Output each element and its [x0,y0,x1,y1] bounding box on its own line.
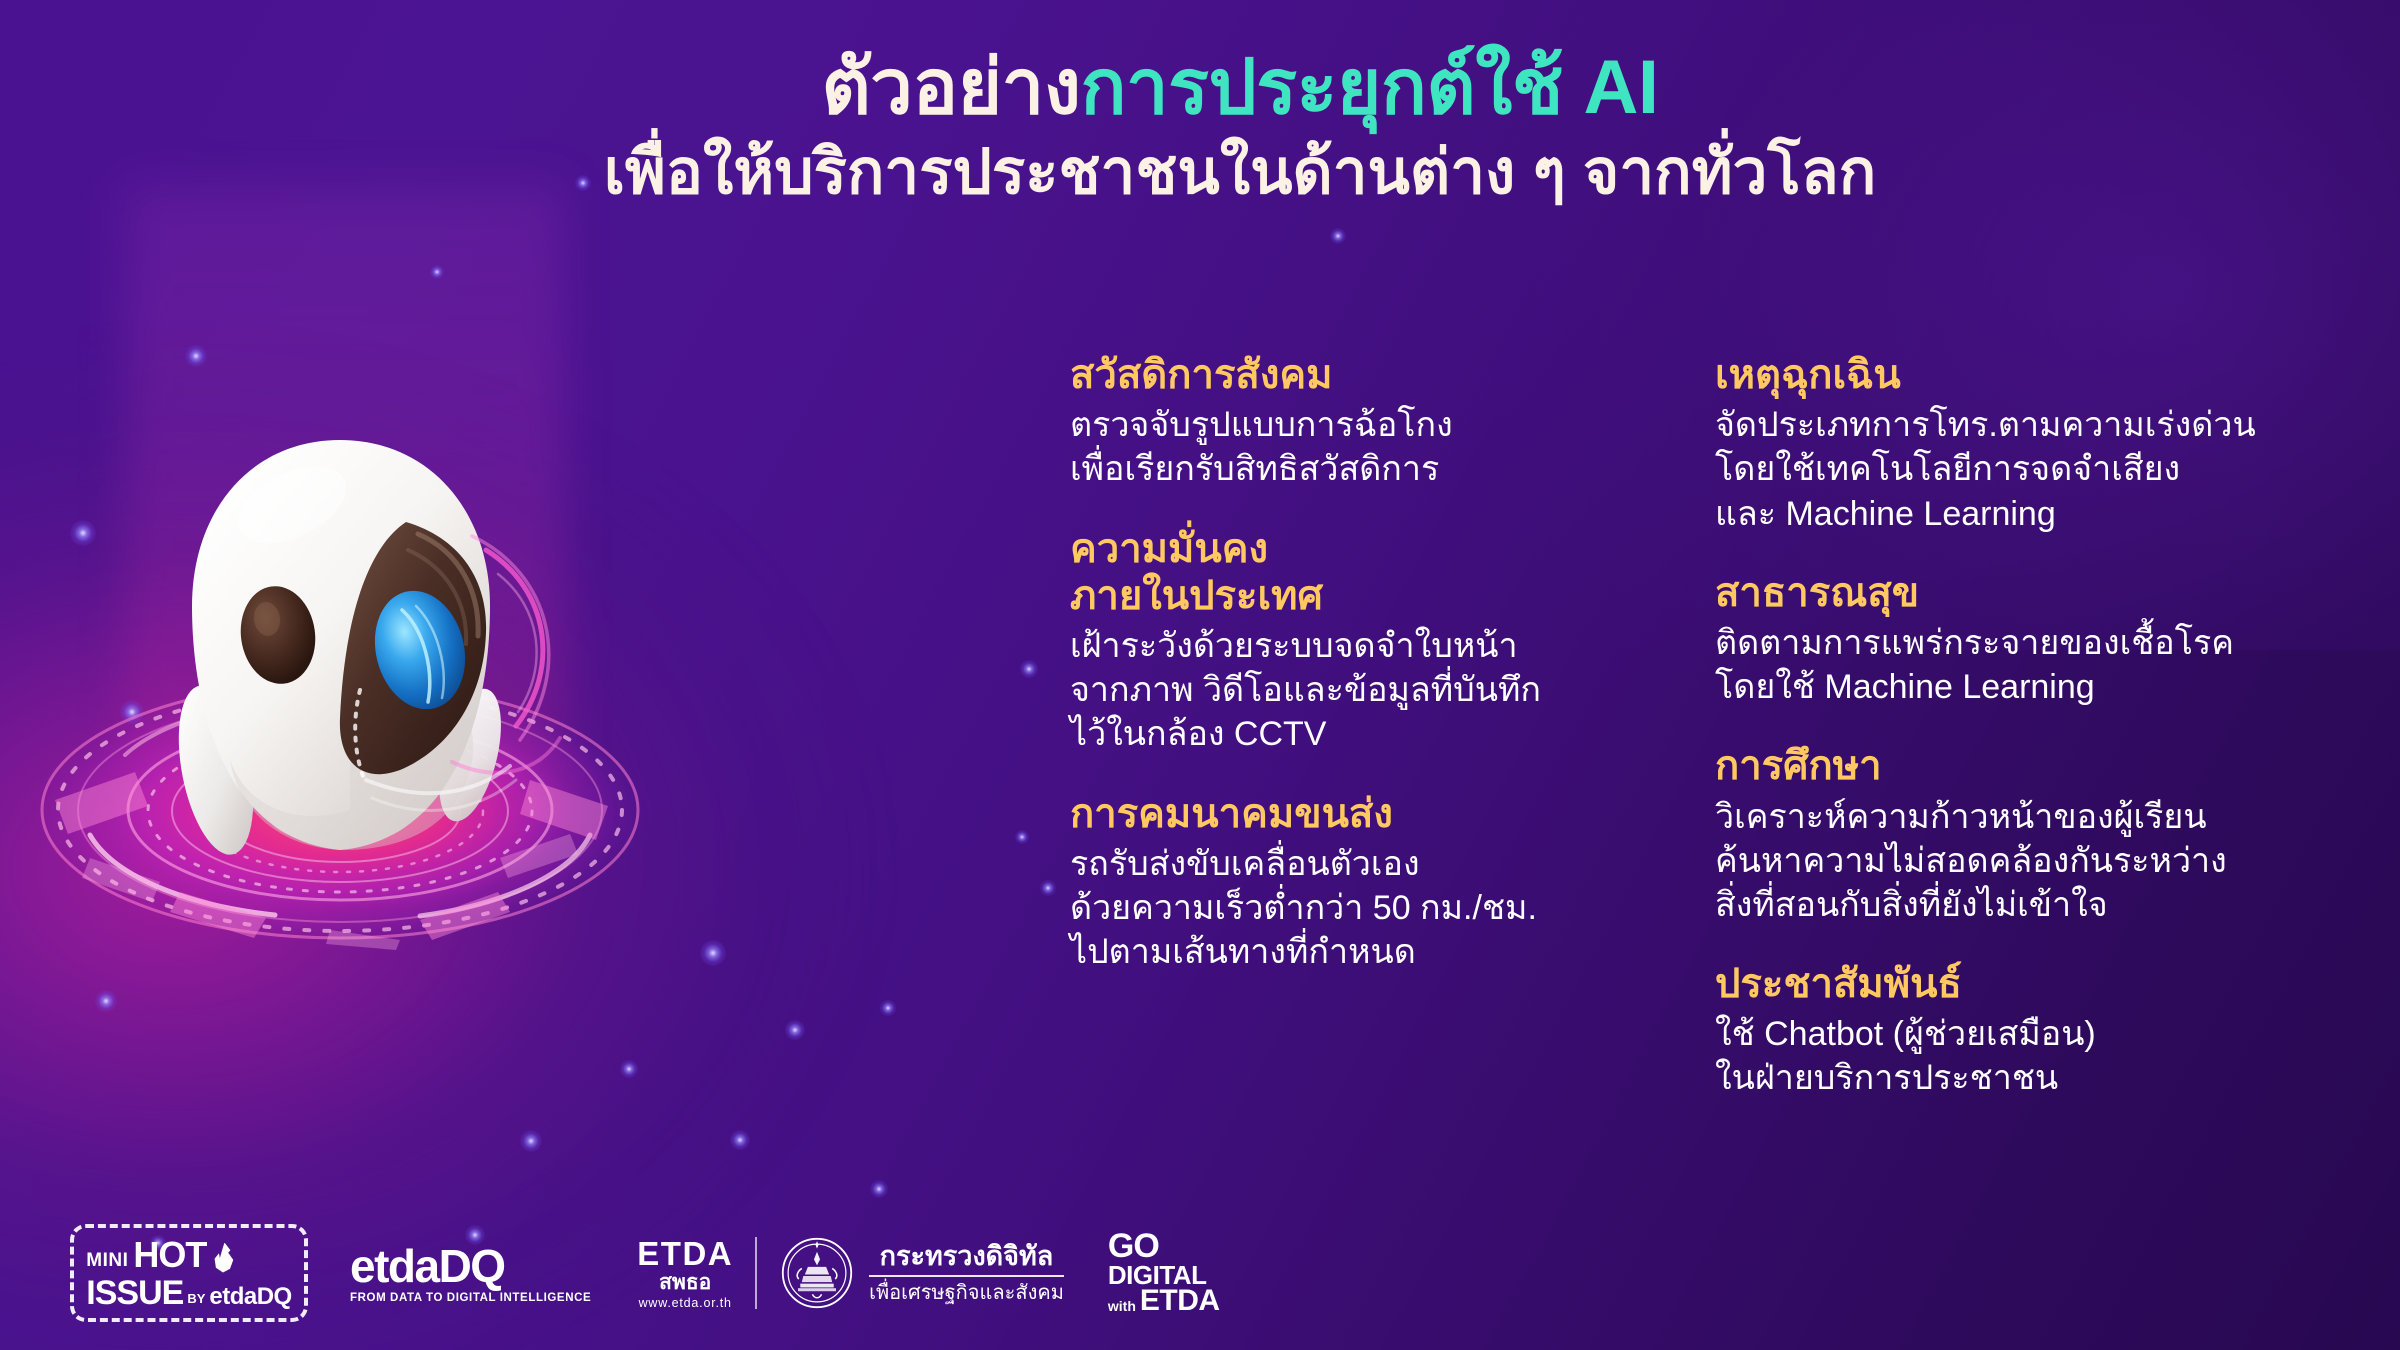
item-body-line: สิ่งที่สอนกับสิ่งที่ยังไม่เข้าใจ [1715,883,2355,927]
footer-divider [755,1237,757,1309]
content-column-left: สวัสดิการสังคม ตรวจจับรูปแบบการฉ้อโกง เพ… [1070,352,1680,974]
go-etda-label: ETDA [1140,1287,1220,1315]
item-heading: สวัสดิการสังคม [1070,352,1680,399]
item-body-line: ด้วยความเร็วต่ำกว่า 50 กม./ชม. [1070,886,1680,930]
item-heading: สาธารณสุข [1715,570,2355,617]
item-heading: เหตุฉุกเฉิน [1715,352,2355,399]
footer-logo-bar: MINI HOT ISSUE BY etdaDQ etdaDQ FROM DAT… [70,1218,1220,1328]
item-body-line: รถรับส่งขับเคลื่อนตัวเอง [1070,842,1680,886]
item-body-line: วิเคราะห์ความก้าวหน้าของผู้เรียน [1715,795,2355,839]
hot-issue-hot-label: HOT [133,1237,206,1273]
flame-icon [212,1243,234,1273]
robot-body-svg [20,250,660,990]
go-label: GO [1108,1231,1220,1263]
item-body-line: และ Machine Learning [1715,492,2355,536]
item-heading-line: ความมั่นคง [1070,526,1680,573]
item-body-line: จากภาพ วิดีโอและข้อมูลที่บันทึก [1070,668,1680,712]
hot-issue-issue-label: ISSUE [86,1276,183,1310]
item-education: การศึกษา วิเคราะห์ความก้าวหน้าของผู้เรีย… [1715,743,2355,927]
item-social-welfare: สวัสดิการสังคม ตรวจจับรูปแบบการฉ้อโกง เพ… [1070,352,1680,492]
item-body: ติดตามการแพร่กระจายของเชื้อโรค โดยใช้ Ma… [1715,621,2355,709]
item-body: ตรวจจับรูปแบบการฉ้อโกง เพื่อเรียกรับสิทธ… [1070,403,1680,491]
hot-issue-etdadq-label: etdaDQ [209,1285,291,1310]
etda-dq-wordmark: etdaDQ [350,1243,591,1289]
ministry-seal-icon [779,1235,855,1311]
logo-etda: ETDA สพธอ www.etda.or.th [637,1237,733,1310]
item-body-line: โดยใช้ Machine Learning [1715,665,2355,709]
logo-etda-dq: etdaDQ FROM DATA TO DIGITAL INTELLIGENCE [350,1243,591,1304]
item-emergency: เหตุฉุกเฉิน จัดประเภทการโทร.ตามความเร่งด… [1715,352,2355,536]
item-body-line: โดยใช้เทคโนโลยีการจดจำเสียง [1715,447,2355,491]
item-heading: การคมนาคมขนส่ง [1070,791,1680,838]
logo-ministry-of-digital-economy: กระทรวงดิจิทัล เพื่อเศรษฐกิจและสังคม [779,1235,1064,1311]
item-body-line: ไว้ในกล้อง CCTV [1070,712,1680,756]
item-body: ใช้ Chatbot (ผู้ช่วยเสมือน) ในฝ่ายบริการ… [1715,1012,2355,1100]
with-label: with [1108,1300,1136,1315]
item-body: รถรับส่งขับเคลื่อนตัวเอง ด้วยความเร็วต่ำ… [1070,842,1680,975]
item-body-line: ใช้ Chatbot (ผู้ช่วยเสมือน) [1715,1012,2355,1056]
title-prefix: ตัวอย่าง [821,45,1080,130]
item-body-line: ไปตามเส้นทางที่กำหนด [1070,930,1680,974]
logo-go-digital-with-etda: GO DIGITAL with ETDA [1108,1231,1220,1315]
etda-url: www.etda.or.th [637,1296,733,1310]
title-accent: การประยุกต์ใช้ AI [1080,45,1658,130]
ministry-name-line1: กระทรวงดิจิทัล [869,1242,1064,1278]
item-heading-line: ภายในประเทศ [1070,573,1680,620]
logo-mini-hot-issue: MINI HOT ISSUE BY etdaDQ [70,1224,308,1322]
item-heading: ความมั่นคง ภายในประเทศ [1070,526,1680,620]
item-body-line: เพื่อเรียกรับสิทธิสวัสดิการ [1070,447,1680,491]
item-body-line: ในฝ่ายบริการประชาชน [1715,1056,2355,1100]
item-body-line: เฝ้าระวังด้วยระบบจดจำใบหน้า [1070,624,1680,668]
ai-robot-illustration [20,250,660,990]
item-heading: การศึกษา [1715,743,2355,790]
item-heading: ประชาสัมพันธ์ [1715,961,2355,1008]
etda-dq-tagline: FROM DATA TO DIGITAL INTELLIGENCE [350,1292,591,1304]
hot-issue-by-label: BY [187,1292,205,1310]
item-body-line: ติดตามการแพร่กระจายของเชื้อโรค [1715,621,2355,665]
etda-wordmark: ETDA [637,1237,733,1270]
infographic-poster: ตัวอย่างการประยุกต์ใช้ AI เพื่อให้บริการ… [0,0,2400,1350]
poster-title: ตัวอย่างการประยุกต์ใช้ AI เพื่อให้บริการ… [400,48,2080,207]
item-public-relations: ประชาสัมพันธ์ ใช้ Chatbot (ผู้ช่วยเสมือน… [1715,961,2355,1101]
item-body: วิเคราะห์ความก้าวหน้าของผู้เรียน ค้นหาคว… [1715,795,2355,928]
ministry-name-line2: เพื่อเศรษฐกิจและสังคม [869,1282,1064,1304]
title-line-1: ตัวอย่างการประยุกต์ใช้ AI [400,48,2080,129]
item-body: เฝ้าระวังด้วยระบบจดจำใบหน้า จากภาพ วิดีโ… [1070,624,1680,757]
item-body-line: ค้นหาความไม่สอดคล้องกันระหว่าง [1715,839,2355,883]
item-internal-security: ความมั่นคง ภายในประเทศ เฝ้าระวังด้วยระบบ… [1070,526,1680,757]
item-transportation: การคมนาคมขนส่ง รถรับส่งขับเคลื่อนตัวเอง … [1070,791,1680,975]
item-body-line: ตรวจจับรูปแบบการฉ้อโกง [1070,403,1680,447]
etda-thai-name: สพธอ [637,1272,733,1293]
content-column-right: เหตุฉุกเฉิน จัดประเภทการโทร.ตามความเร่งด… [1715,352,2355,1101]
item-body-line: จัดประเภทการโทร.ตามความเร่งด่วน [1715,403,2355,447]
item-body: จัดประเภทการโทร.ตามความเร่งด่วน โดยใช้เท… [1715,403,2355,536]
title-line-2: เพื่อให้บริการประชาชนในด้านต่าง ๆ จากทั่… [400,139,2080,207]
item-public-health: สาธารณสุข ติดตามการแพร่กระจายของเชื้อโรค… [1715,570,2355,710]
hot-issue-mini-label: MINI [86,1251,128,1273]
